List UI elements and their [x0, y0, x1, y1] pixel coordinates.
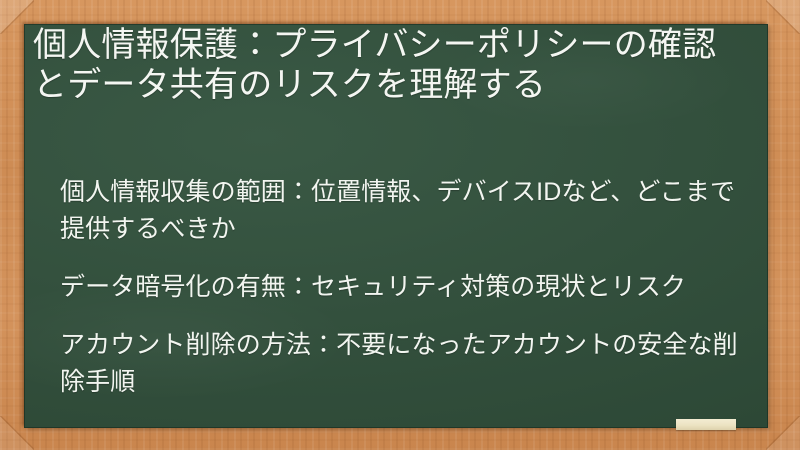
blackboard-slide: 個人情報保護：プライバシーポリシーの確認とデータ共有のリスクを理解する 個人情報…: [0, 0, 800, 450]
chalk-stick-icon: [676, 419, 736, 430]
bullet-item-3: アカウント削除の方法：不要になったアカウントの安全な削除手順: [60, 327, 760, 401]
slide-title: 個人情報保護：プライバシーポリシーの確認とデータ共有のリスクを理解する: [33, 25, 749, 105]
slide-content: 個人情報保護：プライバシーポリシーの確認とデータ共有のリスクを理解する 個人情報…: [24, 24, 776, 450]
bullet-item-2: データ暗号化の有無：セキュリティ対策の現状とリスク: [60, 269, 760, 306]
bullet-list: 個人情報収集の範囲：位置情報、デバイスIDなど、どこまで提供するべきか データ暗…: [60, 174, 760, 401]
bullet-item-1: 個人情報収集の範囲：位置情報、デバイスIDなど、どこまで提供するべきか: [60, 174, 760, 248]
